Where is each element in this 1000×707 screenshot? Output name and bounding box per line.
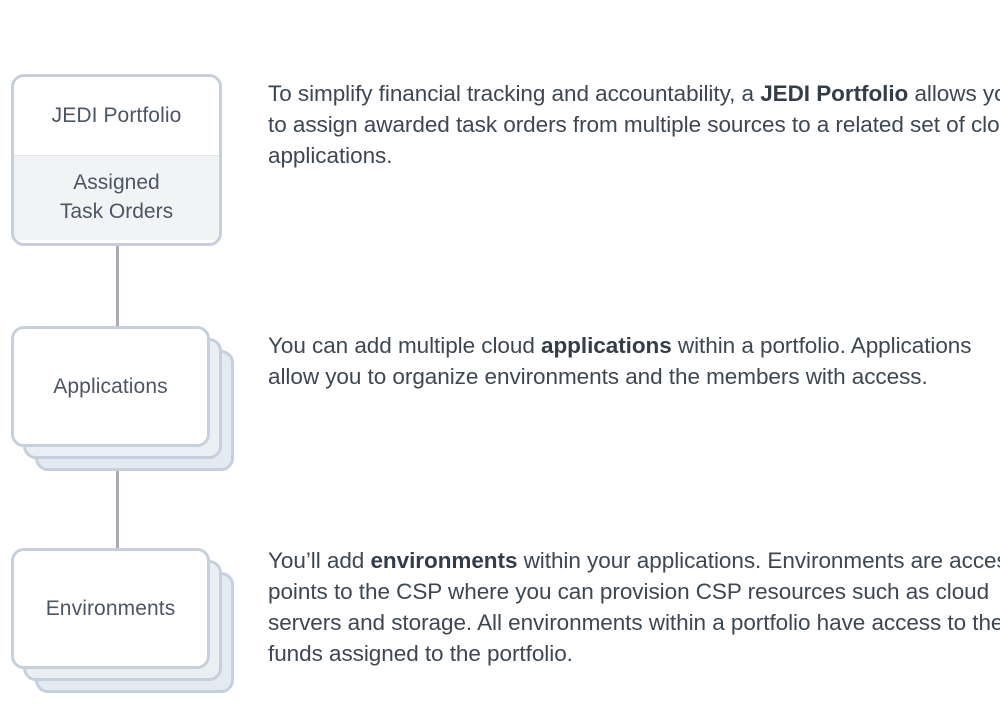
- card-label-environments: Environments: [14, 551, 207, 666]
- node-environments[interactable]: Environments: [11, 548, 222, 693]
- node-applications[interactable]: Applications: [11, 326, 222, 471]
- description-emphasis: applications: [541, 333, 672, 358]
- description-jedi-portfolio: To simplify financial tracking and accou…: [268, 78, 1000, 171]
- card-section-assigned-task-orders: Assigned Task Orders: [14, 155, 219, 240]
- connector-portfolio-to-applications: [116, 244, 119, 328]
- description-text-part-1: You’ll add: [268, 548, 370, 573]
- assigned-task-orders-line-1: Assigned: [22, 168, 211, 197]
- connector-applications-to-environments: [116, 468, 119, 550]
- description-applications: You can add multiple cloud applications …: [268, 330, 1000, 392]
- node-jedi-portfolio[interactable]: JEDI Portfolio Assigned Task Orders: [11, 74, 222, 246]
- description-emphasis: environments: [370, 548, 517, 573]
- description-environments: You’ll add environments within your appl…: [268, 545, 1000, 669]
- card-environments[interactable]: Environments: [11, 548, 210, 669]
- assigned-task-orders-line-2: Task Orders: [22, 197, 211, 226]
- card-label-applications: Applications: [14, 329, 207, 444]
- card-jedi-portfolio[interactable]: JEDI Portfolio Assigned Task Orders: [11, 74, 222, 246]
- card-label-jedi-portfolio: JEDI Portfolio: [14, 77, 219, 155]
- description-emphasis: JEDI Portfolio: [760, 81, 908, 106]
- hierarchy-diagram: JEDI Portfolio Assigned Task Orders Appl…: [0, 0, 1000, 707]
- description-text-part-1: To simplify financial tracking and accou…: [268, 81, 760, 106]
- card-applications[interactable]: Applications: [11, 326, 210, 447]
- description-text-part-1: You can add multiple cloud: [268, 333, 541, 358]
